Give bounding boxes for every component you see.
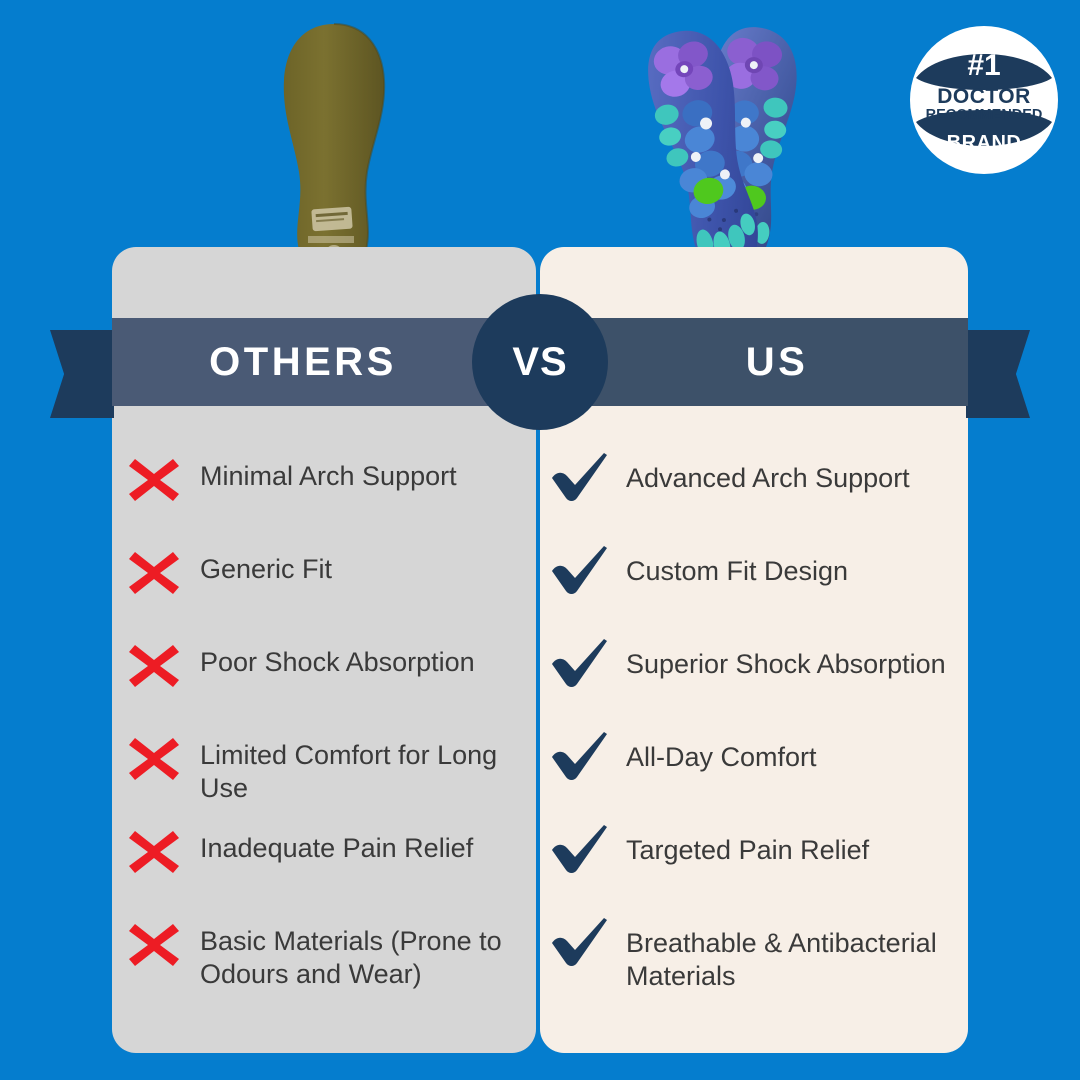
list-item: Minimal Arch Support — [120, 452, 540, 545]
badge-rank-label: #1 — [967, 49, 1000, 82]
list-item-label: Poor Shock Absorption — [200, 642, 475, 679]
ribbon-tail-right — [966, 330, 1030, 418]
cross-icon — [126, 545, 182, 601]
check-icon — [550, 545, 612, 597]
list-item-label: Basic Materials (Prone to Odours and Wea… — [200, 921, 540, 992]
list-item: Advanced Arch Support — [548, 452, 968, 545]
list-item: Poor Shock Absorption — [120, 638, 540, 731]
list-item-label: Targeted Pain Relief — [626, 830, 869, 867]
cross-icon — [126, 731, 182, 787]
list-item: All-Day Comfort — [548, 731, 968, 824]
list-item-label: Limited Comfort for Long Use — [200, 735, 540, 806]
list-item: Breathable & Antibacterial Materials — [548, 917, 968, 1010]
check-icon — [550, 452, 612, 504]
header-title-us: US — [586, 318, 968, 406]
list-item-label: All-Day Comfort — [626, 737, 817, 774]
list-item-label: Superior Shock Absorption — [626, 644, 946, 681]
list-item: Basic Materials (Prone to Odours and Wea… — [120, 917, 540, 1010]
check-icon — [550, 638, 612, 690]
list-item: Custom Fit Design — [548, 545, 968, 638]
list-item-label: Inadequate Pain Relief — [200, 828, 473, 865]
vs-label: VS — [512, 340, 567, 385]
list-item-label: Custom Fit Design — [626, 551, 848, 588]
cross-icon — [126, 917, 182, 973]
list-item: Targeted Pain Relief — [548, 824, 968, 917]
badge-line1-label: DOCTOR — [937, 85, 1031, 108]
list-item: Limited Comfort for Long Use — [120, 731, 540, 824]
list-item-label: Generic Fit — [200, 549, 332, 586]
list-item: Generic Fit — [120, 545, 540, 638]
check-icon — [550, 917, 612, 969]
header-title-us-label: US — [746, 340, 809, 385]
cross-icon — [126, 638, 182, 694]
cross-icon — [126, 452, 182, 508]
header-title-others-label: OTHERS — [209, 340, 397, 385]
ribbon-tail-left — [50, 330, 114, 418]
infographic-root: L — [0, 0, 1080, 1080]
product-image-others: L — [268, 22, 400, 280]
check-icon — [550, 731, 612, 783]
others-feature-list: Minimal Arch Support Generic Fit Poor Sh… — [120, 452, 540, 1010]
header-title-others: OTHERS — [112, 318, 494, 406]
list-item: Superior Shock Absorption — [548, 638, 968, 731]
doctor-recommended-badge: #1 DOCTOR RECOMMENDED BRAND — [908, 24, 1060, 176]
badge-line3-label: BRAND — [947, 132, 1022, 154]
list-item-label: Minimal Arch Support — [200, 456, 457, 493]
cross-icon — [126, 824, 182, 880]
list-item-label: Breathable & Antibacterial Materials — [626, 923, 968, 994]
check-icon — [550, 824, 612, 876]
list-item-label: Advanced Arch Support — [626, 458, 910, 495]
vs-badge: VS — [472, 294, 608, 430]
us-feature-list: Advanced Arch Support Custom Fit Design … — [548, 452, 968, 1010]
badge-line2-label: RECOMMENDED — [926, 107, 1043, 123]
list-item: Inadequate Pain Relief — [120, 824, 540, 917]
